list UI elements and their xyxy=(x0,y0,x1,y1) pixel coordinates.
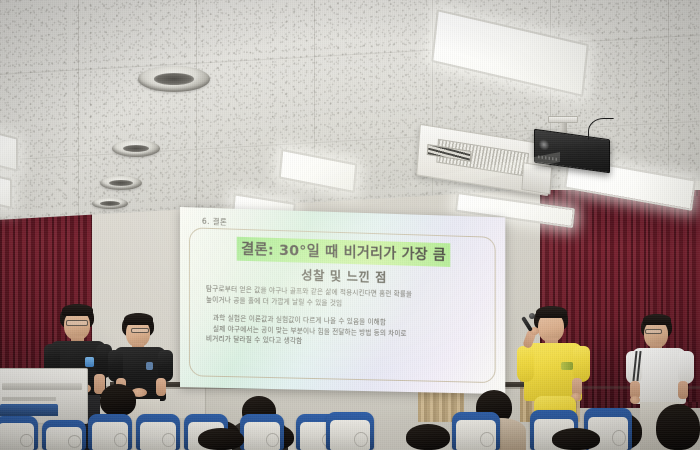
cabinet-base xyxy=(0,404,58,416)
auditorium-chair[interactable] xyxy=(326,412,374,450)
shirt-logo xyxy=(146,362,153,370)
sleeve-left xyxy=(517,346,534,382)
glasses-icon xyxy=(131,328,149,333)
shirt-logo xyxy=(85,357,94,367)
sleeve-right xyxy=(678,351,694,384)
cabinet-slot xyxy=(2,383,81,390)
chair-back-pad xyxy=(330,420,370,450)
auditorium-chair[interactable] xyxy=(136,414,180,450)
chair-back-pad xyxy=(140,422,177,450)
ac-side-panel xyxy=(521,162,552,194)
hair-fringe xyxy=(536,306,567,318)
projection-screen: 6. 결론 결론: 30°일 때 비거리가 가장 큼 성찰 및 느낀 점 탐구로… xyxy=(180,207,505,394)
forearm-right xyxy=(156,378,166,396)
hair-fringe xyxy=(62,304,93,316)
audience-head xyxy=(100,384,136,416)
microphone-head xyxy=(529,313,535,319)
ceiling-vent-3 xyxy=(100,176,142,190)
hair-fringe xyxy=(643,314,671,325)
slide-section-label: 6. 결론 xyxy=(202,216,227,228)
auditorium-chair[interactable] xyxy=(42,420,86,450)
projector-ceiling-plate xyxy=(548,116,578,123)
hair-fringe xyxy=(124,313,153,325)
forearm-right xyxy=(678,381,688,399)
ceiling-vent-4 xyxy=(92,198,128,209)
glasses-icon xyxy=(66,320,88,326)
audience-head-foreground xyxy=(552,428,600,450)
projector-cable xyxy=(588,118,614,140)
ceiling-vent-2 xyxy=(112,140,160,157)
slide-body: 탐구로부터 얻은 값을 야구나 골프와 같은 삶에 적용시킨다면 홈런 확률을 … xyxy=(206,284,486,359)
slide-paragraph: 과학 실험은 이론값과 실험값이 다르게 나올 수 있음을 이해함 실제 야구에… xyxy=(206,313,486,351)
cabinet-slot-secondary xyxy=(2,397,56,401)
auditorium-presentation-photo: 6. 결론 결론: 30°일 때 비거리가 가장 큼 성찰 및 느낀 점 탐구로… xyxy=(0,0,700,450)
chair-back-pad xyxy=(92,422,129,450)
glasses-icon xyxy=(645,329,662,334)
chair-back-pad xyxy=(456,420,496,450)
auditorium-chair[interactable] xyxy=(240,414,284,450)
chair-back-pad xyxy=(244,422,281,450)
audience-head-foreground xyxy=(198,428,244,450)
auditorium-chair[interactable] xyxy=(452,412,500,450)
hand-left xyxy=(630,396,640,404)
shirt-graphic xyxy=(561,362,573,370)
audience-head xyxy=(656,404,700,450)
auditorium-chair[interactable] xyxy=(0,416,38,450)
presentation-slide: 6. 결론 결론: 30°일 때 비거리가 가장 큼 성찰 및 느낀 점 탐구로… xyxy=(180,207,505,394)
chair-back-pad xyxy=(0,423,34,450)
ceiling-vent-1 xyxy=(138,66,210,92)
chair-back-pad xyxy=(46,427,83,450)
led-panel-light-left-edge-2 xyxy=(0,173,12,209)
audience-head xyxy=(406,424,450,450)
led-panel-light-left-edge xyxy=(0,130,18,171)
auditorium-chair[interactable] xyxy=(88,414,132,450)
sleeve-right xyxy=(573,346,590,382)
